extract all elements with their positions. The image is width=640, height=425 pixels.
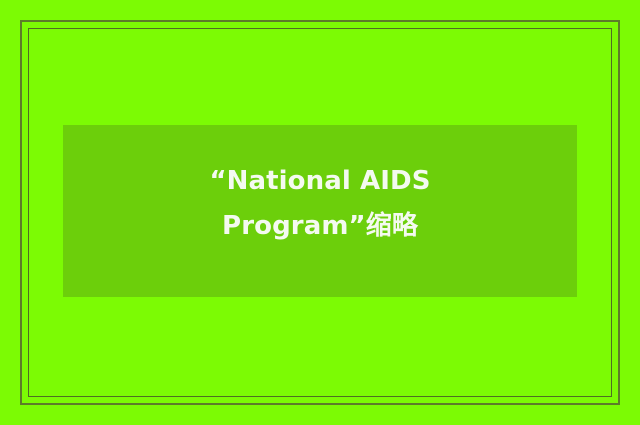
headline-text: “National AIDS Program”缩略 (205, 159, 435, 263)
banner-canvas: “National AIDS Program”缩略 (0, 0, 640, 425)
headline-panel: “National AIDS Program”缩略 (63, 125, 577, 297)
